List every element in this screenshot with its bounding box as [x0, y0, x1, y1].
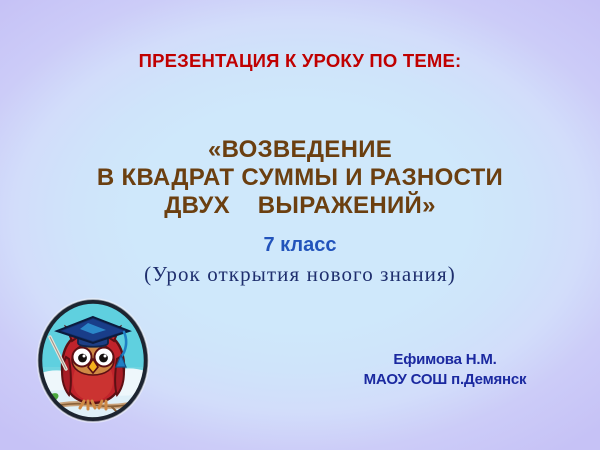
author-block: Ефимова Н.М. МАОУ СОШ п.Демянск [300, 350, 590, 391]
slide-title-line-3: ДВУХ ВЫРАЖЕНИЙ» [0, 192, 600, 220]
author-school: МАОУ СОШ п.Демянск [300, 370, 590, 390]
slide-header-text: ПРЕЗЕНТАЦИЯ К УРОКУ ПО ТЕМЕ: [0, 50, 600, 72]
slide-title-line-2: В КВАДРАТ СУММЫ И РАЗНОСТИ [0, 164, 600, 192]
slide-title-block: «ВОЗВЕДЕНИЕ В КВАДРАТ СУММЫ И РАЗНОСТИ Д… [0, 136, 600, 219]
slide-title-line-1: «ВОЗВЕДЕНИЕ [0, 136, 600, 164]
author-name: Ефимова Н.М. [300, 350, 590, 370]
slide-grade-text: 7 класс [0, 234, 600, 257]
slide-subtitle-text: (Урок открытия нового знания) [0, 262, 600, 287]
owl-graduate-icon [36, 297, 150, 424]
presentation-slide: ПРЕЗЕНТАЦИЯ К УРОКУ ПО ТЕМЕ: «ВОЗВЕДЕНИЕ… [0, 0, 600, 450]
